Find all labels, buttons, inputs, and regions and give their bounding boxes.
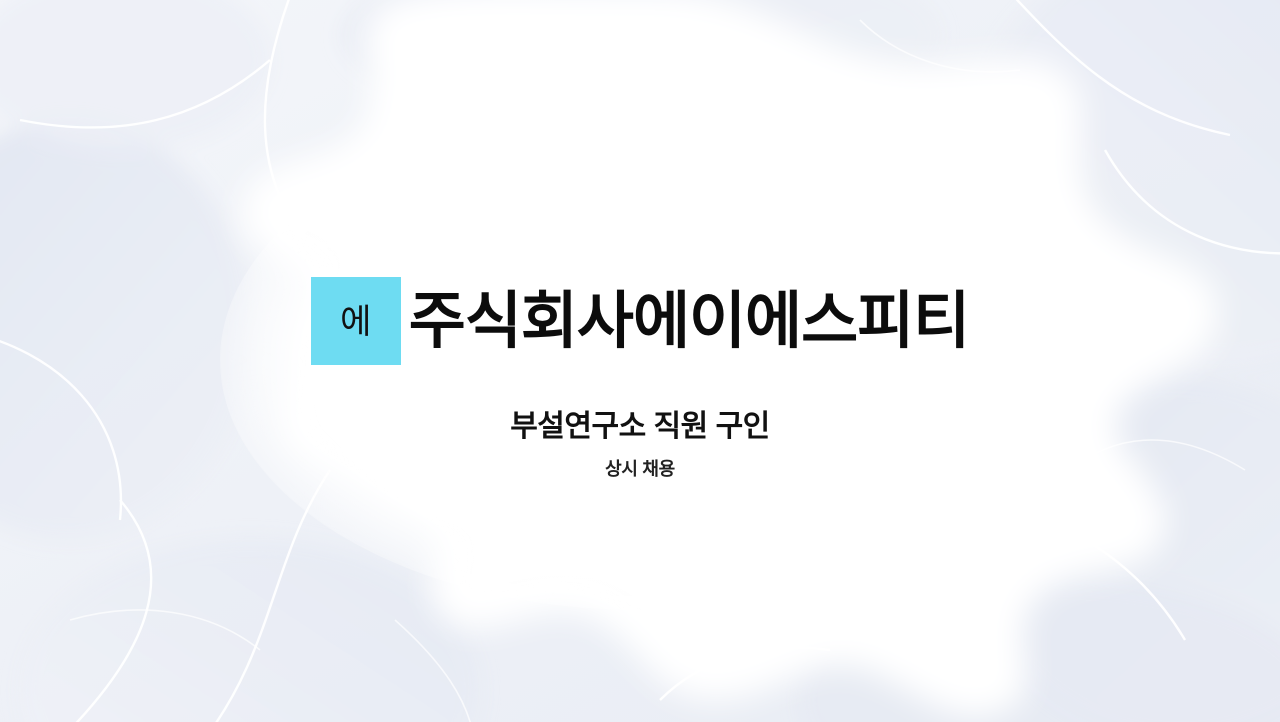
hiring-type-label: 상시 채용 [0,459,1280,481]
company-name: 주식회사에이에스피티 [409,289,969,354]
job-title: 부설연구소 직원 구인 [0,409,1280,445]
company-logo-badge: 에 [311,277,401,365]
company-title-row: 에 주식회사에이에스피티 [0,247,1280,395]
job-posting-poster: 에 주식회사에이에스피티 부설연구소 직원 구인 상시 채용 [0,0,1280,722]
company-logo-initial: 에 [340,305,371,339]
poster-content: 에 주식회사에이에스피티 부설연구소 직원 구인 상시 채용 [0,0,1280,722]
